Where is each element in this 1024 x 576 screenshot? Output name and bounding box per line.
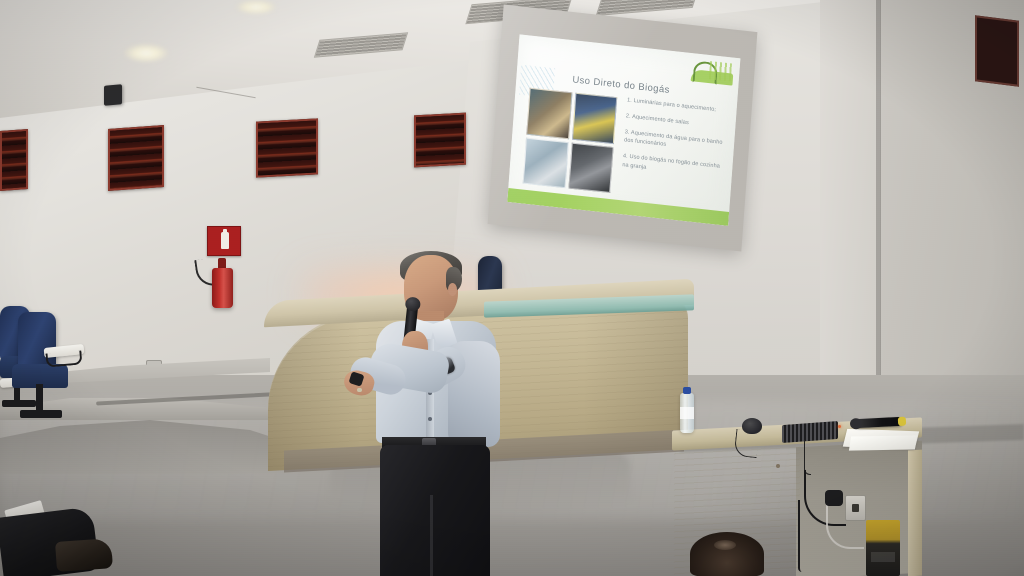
extinguisher-glyph-icon: [221, 232, 229, 249]
power-cable: [798, 500, 810, 572]
slide-photo: [526, 88, 572, 139]
louvered-window: [0, 129, 28, 191]
window-louvers: [110, 127, 162, 189]
ceiling-light-icon: [236, 0, 276, 14]
lecture-hall-photo: Uso Direto do Biogás 1. Luminárias para …: [0, 0, 1024, 576]
slide-bullet: 3. Aquecimento da água para o banho dos …: [624, 128, 729, 155]
logo-bars-icon: [709, 61, 732, 81]
wall-speaker-box: [104, 84, 122, 106]
slide-photo-grid: [523, 88, 618, 193]
microphone-tip: [898, 417, 906, 426]
headset: [742, 418, 762, 434]
seated-person-shoe: [55, 538, 113, 572]
slide-photo: [572, 93, 618, 144]
fire-extinguisher-sign: [207, 226, 241, 256]
fire-extinguisher: [212, 268, 233, 308]
audience-member-head: [690, 532, 764, 576]
shirt-button: [428, 417, 432, 421]
slide-bullet-list: 1. Luminárias para o aquecimento; 2. Aqu…: [621, 96, 730, 188]
presentation-slide: Uso Direto do Biogás 1. Luminárias para …: [507, 34, 740, 226]
presenter-ear: [448, 283, 457, 296]
slide-photo: [523, 137, 569, 188]
water-bottle: [680, 393, 694, 433]
presenter-trousers: [380, 445, 490, 576]
louvered-window: [108, 125, 164, 191]
window-louvers: [416, 115, 464, 166]
bottle-label: [680, 407, 694, 419]
finger-ring: [357, 388, 362, 392]
power-outlet: [845, 495, 866, 521]
louvered-window: [256, 118, 318, 177]
bottle-cap: [683, 387, 691, 394]
slide-footer-band: [507, 188, 729, 226]
table-cabinet-knob: [776, 464, 780, 468]
printed-papers: [849, 435, 917, 450]
audience-head-highlight: [714, 540, 736, 550]
slide-title: Uso Direto do Biogás: [572, 74, 670, 96]
chair-foot: [2, 400, 36, 407]
chair-foot: [20, 410, 62, 418]
equipment-case-label: [871, 552, 895, 562]
yellow-equipment-case: [866, 520, 900, 576]
presenter: [330, 255, 530, 576]
slide-bullet: 4. Uso do biogás no fogão de cozinha na …: [622, 153, 727, 180]
window-louvers: [2, 131, 26, 189]
microphone-led-indicator: [838, 425, 841, 428]
window-louvers: [258, 120, 316, 175]
slide-logo: [686, 57, 734, 88]
ceiling-light-icon: [124, 44, 168, 62]
slide-bullet: 2. Aquecimento de salas: [626, 112, 730, 131]
outlet-socket-icon: [852, 504, 859, 512]
projection-screen: Uso Direto do Biogás 1. Luminárias para …: [488, 5, 758, 252]
slide-bullet: 1. Luminárias para o aquecimento;: [627, 96, 731, 115]
slide-photo: [568, 142, 614, 193]
window-right-upper: [975, 15, 1019, 86]
trouser-seam: [430, 495, 433, 576]
louvered-window: [414, 113, 466, 168]
microphone-head-icon: [850, 418, 863, 430]
power-plug: [825, 490, 843, 506]
table-leg: [908, 450, 922, 576]
